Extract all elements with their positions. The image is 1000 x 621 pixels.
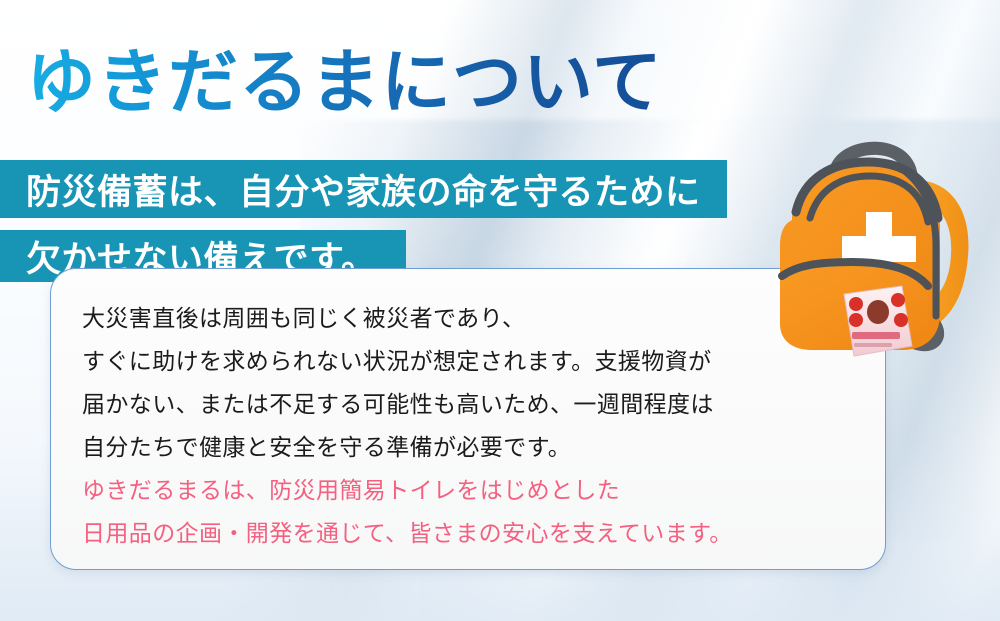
body-line: すぐに助けを求められない状況が想定されます。支援物資が: [82, 340, 782, 383]
package-badge: [891, 293, 905, 307]
subtitle-text-line1: 防災備蓄は、自分や家族の命を守るために: [26, 164, 701, 215]
content-card-text: 大災害直後は周囲も同じく被災者であり、 すぐに助けを求められない状況が想定されま…: [82, 297, 782, 555]
package-badge: [849, 313, 863, 327]
package-badge: [894, 313, 908, 327]
body-line-accent: ゆきだるまるは、防災用簡易トイレをはじめとした: [82, 469, 782, 512]
body-line: 届かない、または不足する可能性も高いため、一週間程度は: [82, 383, 782, 426]
portable-toilet-package: [844, 286, 912, 356]
body-line-accent: 日用品の企画・開発を通じて、皆さまの安心を支えています。: [82, 512, 782, 555]
page-title: ゆきだるまについて: [26, 46, 663, 120]
package-product-photo: [867, 300, 889, 324]
emergency-backpack-illustration: [756, 128, 1000, 378]
package-title-text: [852, 332, 900, 339]
package-sub-text: [854, 343, 892, 347]
package-badge: [849, 297, 863, 311]
banner-root: ゆきだるまについて 防災備蓄は、自分や家族の命を守るために 欠かせない備えです。…: [0, 0, 1000, 621]
subtitle-bar-line1: 防災備蓄は、自分や家族の命を守るために: [0, 160, 727, 218]
body-line: 自分たちで健康と安全を守る準備が必要です。: [82, 426, 782, 469]
body-line: 大災害直後は周囲も同じく被災者であり、: [82, 297, 782, 340]
